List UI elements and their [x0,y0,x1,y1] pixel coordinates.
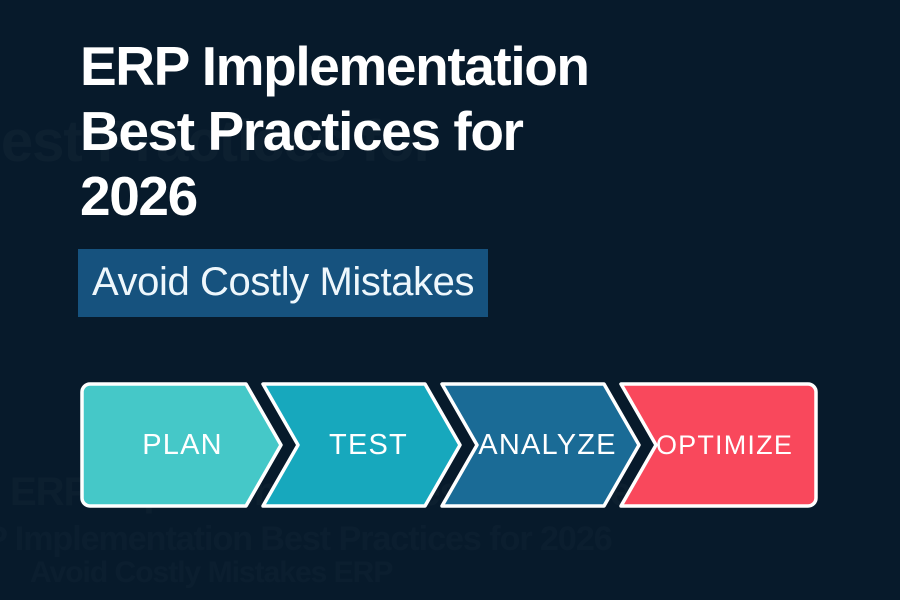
banner-graphic: Best Practices for ERP Implementation Be… [0,0,900,600]
process-step-optimize[interactable]: OPTIMIZE [617,381,818,509]
headline-line-2: Best Practices for [80,99,780,164]
process-step-analyze-label: ANALYZE [464,429,616,462]
background-watermark-line-3: ERP Implementation Best Practices for 20… [0,520,840,559]
subtitle-banner: Avoid Costly Mistakes [78,249,488,317]
background-watermark-line-4: Avoid Costly Mistakes ERP [30,556,900,590]
subtitle-text: Avoid Costly Mistakes [78,249,488,317]
headline-line-3: 2026 [80,164,780,229]
headline-line-1: ERP Implementation [80,34,780,99]
process-step-plan[interactable]: PLAN [80,381,285,509]
headline: ERP Implementation Best Practices for 20… [80,34,780,229]
process-step-test[interactable]: TEST [259,381,464,509]
process-flow: PLAN TEST ANALYZE OP [80,381,866,509]
process-step-analyze[interactable]: ANALYZE [438,381,643,509]
process-step-optimize-label: OPTIMIZE [642,430,793,461]
process-step-plan-label: PLAN [142,429,223,462]
process-step-test-label: TEST [315,429,408,462]
